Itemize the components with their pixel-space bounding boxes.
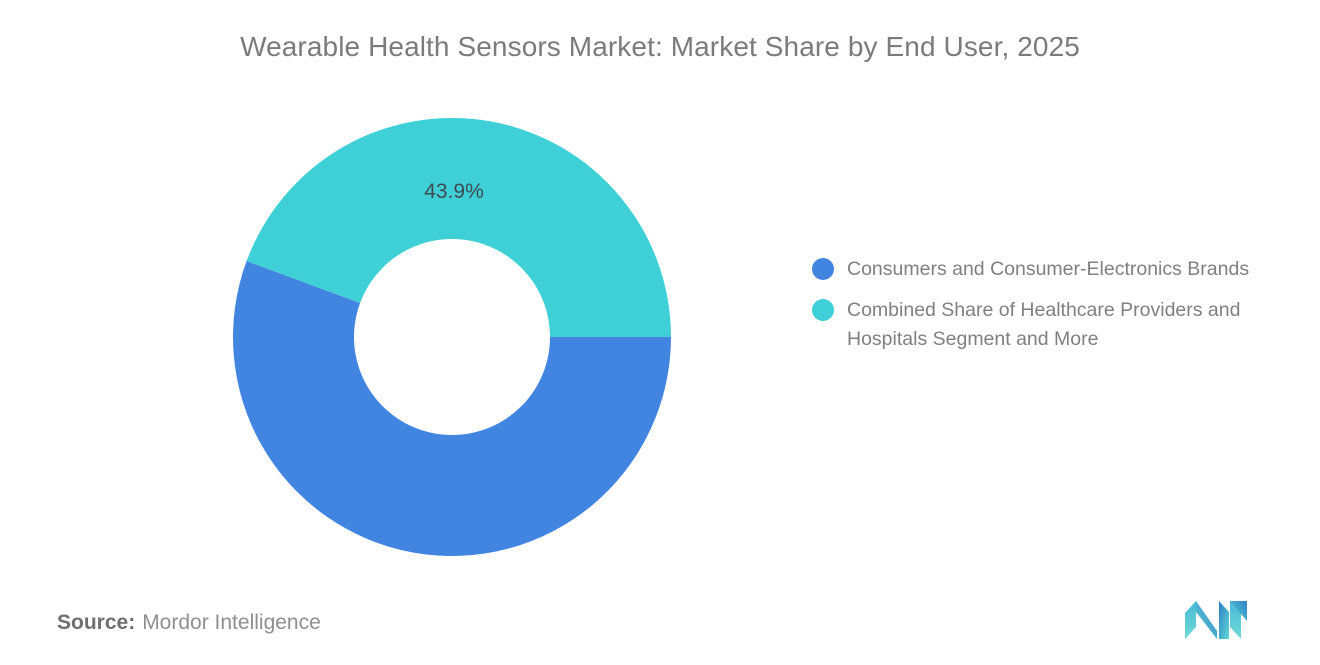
legend-item-label: Consumers and Consumer-Electronics Brand… [847,255,1249,284]
page-title: Wearable Health Sensors Market: Market S… [0,28,1320,66]
mordor-logo-mark [1183,599,1249,641]
source-note: Source:Mordor Intelligence [57,611,321,635]
chart-figure: Wearable Health Sensors Market: Market S… [0,0,1320,665]
legend-item-label: Combined Share of Healthcare Providers a… [847,296,1267,354]
legend-item-consumers[interactable]: Consumers and Consumer-Electronics Brand… [812,255,1282,284]
donut-chart-svg [233,118,671,556]
legend-dot-icon [812,299,834,321]
source-label: Source: [57,611,135,634]
chart-legend: Consumers and Consumer-Electronics Brand… [812,255,1282,366]
source-value: Mordor Intelligence [142,611,321,634]
legend-dot-icon [812,258,834,280]
legend-item-healthcare[interactable]: Combined Share of Healthcare Providers a… [812,296,1282,354]
donut-hole [354,239,550,435]
donut-chart: 43.9% [233,118,671,556]
mordor-intelligence-logo [1183,599,1249,641]
